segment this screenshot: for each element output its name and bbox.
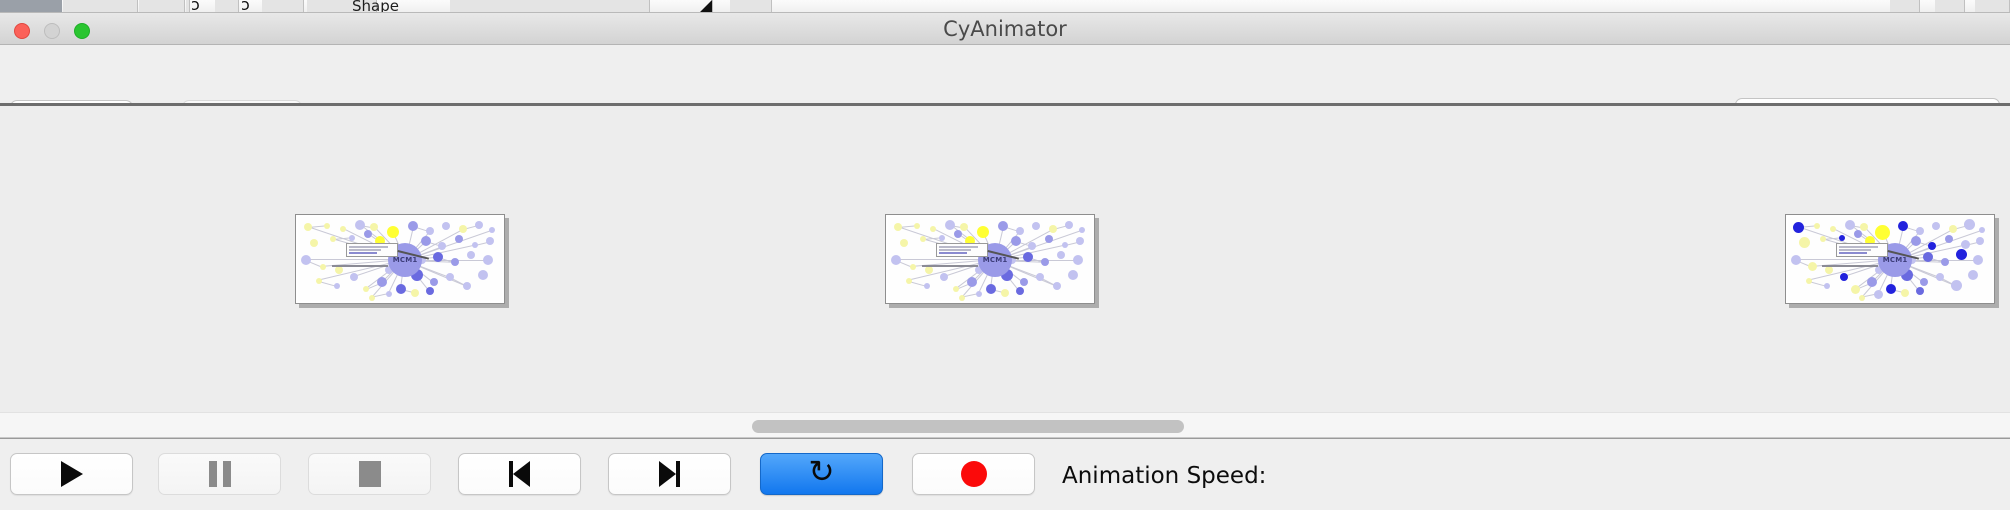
network-node	[1920, 278, 1928, 286]
network-node	[340, 226, 346, 232]
network-node	[442, 222, 450, 230]
network-node	[467, 251, 475, 259]
pause-icon	[209, 461, 231, 487]
network-node	[1068, 270, 1078, 280]
network-node	[411, 289, 419, 297]
network-node	[364, 230, 372, 238]
window-title: CyAnimator	[0, 13, 2010, 45]
network-node	[1073, 255, 1083, 265]
network-caption-text	[1822, 265, 1878, 267]
network-node	[891, 255, 901, 265]
network-node	[304, 223, 312, 231]
network-node	[1911, 236, 1921, 246]
cyanimator-window: ᴐ ᴐ Shape ◢ CyAnimator ✚ Clea	[0, 0, 2010, 510]
network-node	[396, 284, 406, 294]
network-node	[1791, 255, 1801, 265]
network-node	[350, 273, 358, 281]
network-node	[900, 239, 908, 247]
network-node	[1867, 277, 1877, 287]
network-node	[1079, 227, 1085, 233]
record-button[interactable]	[912, 453, 1035, 495]
network-node	[1979, 227, 1985, 233]
network-node	[455, 235, 463, 243]
network-node	[363, 286, 369, 292]
network-node	[1964, 219, 1975, 230]
network-node	[1808, 262, 1817, 271]
network-node	[451, 258, 459, 266]
network-node	[1814, 223, 1820, 229]
network-node	[1045, 235, 1053, 243]
network-node	[1016, 287, 1024, 295]
network-node	[301, 255, 311, 265]
network-node	[1011, 236, 1021, 246]
network-node	[910, 264, 916, 270]
network-node	[1820, 236, 1826, 242]
network-node	[1951, 280, 1962, 291]
network-node	[430, 278, 438, 286]
network-tooltip	[1836, 243, 1888, 257]
network-node	[408, 221, 418, 231]
network-node	[1941, 258, 1949, 266]
network-node	[1875, 225, 1890, 240]
timeline-scrollbar[interactable]	[0, 412, 2010, 438]
stop-icon	[359, 461, 381, 487]
network-node	[1049, 225, 1057, 233]
network-node	[1020, 278, 1028, 286]
network-node	[1854, 230, 1862, 238]
network-node	[906, 278, 912, 284]
network-node	[478, 270, 488, 280]
timeline-panel[interactable]: MCM1MCM1MCM1 2131415161718 Seconds	[0, 106, 2010, 412]
network-node	[1028, 242, 1036, 250]
network-node	[310, 239, 318, 247]
pause-button[interactable]	[158, 453, 281, 495]
background-app-sliver: ᴐ ᴐ Shape ◢	[0, 0, 2010, 13]
scrollbar-thumb[interactable]	[752, 420, 1184, 433]
network-node	[920, 236, 926, 242]
network-node	[1023, 252, 1033, 262]
skip-next-icon	[659, 461, 680, 487]
network-caption-text	[332, 265, 388, 267]
record-icon	[961, 461, 987, 487]
network-node	[1845, 220, 1855, 230]
network-node	[1824, 283, 1830, 289]
network-node	[421, 236, 431, 246]
animation-speed-label: Animation Speed:	[1062, 463, 1266, 489]
network-preview: MCM1	[1788, 217, 1992, 301]
network-node	[967, 277, 977, 287]
network-caption-text	[922, 265, 978, 267]
network-node	[369, 295, 375, 301]
network-node	[940, 273, 948, 281]
network-node	[1806, 278, 1812, 284]
network-node	[489, 227, 495, 233]
network-node	[1001, 289, 1009, 297]
toolbar: ✚ Clear All Frames	[0, 45, 2010, 104]
network-node	[1932, 222, 1940, 230]
play-button[interactable]	[10, 453, 133, 495]
background-app-label: Shape	[352, 0, 399, 12]
network-node	[1062, 242, 1068, 248]
stop-button[interactable]	[308, 453, 431, 495]
network-node	[959, 295, 965, 301]
network-node	[1886, 284, 1896, 294]
network-node	[472, 242, 478, 248]
network-preview: MCM1	[298, 217, 502, 301]
network-node	[1839, 235, 1845, 241]
network-node	[334, 283, 340, 289]
network-node	[976, 291, 982, 297]
network-node	[1076, 237, 1084, 245]
frame-thumbnail[interactable]: MCM1	[295, 214, 505, 304]
network-node	[1945, 235, 1953, 243]
frame-thumbnail[interactable]: MCM1	[885, 214, 1095, 304]
network-node	[953, 286, 959, 292]
skip-previous-icon	[509, 461, 530, 487]
network-node	[1898, 221, 1908, 231]
network-node	[1016, 227, 1024, 235]
network-node	[377, 277, 387, 287]
network-node	[1830, 226, 1836, 232]
network-node	[324, 223, 330, 229]
network-node	[1961, 240, 1970, 249]
network-node	[998, 221, 1008, 231]
network-node	[1053, 282, 1061, 290]
network-node	[433, 252, 443, 262]
network-node	[387, 226, 399, 238]
network-node	[1840, 273, 1848, 281]
network-node	[930, 226, 936, 232]
network-node	[1859, 295, 1865, 301]
network-node	[1968, 270, 1978, 280]
network-node	[924, 283, 930, 289]
network-node	[914, 223, 920, 229]
network-node	[426, 287, 434, 295]
network-node	[1901, 289, 1909, 297]
network-node	[939, 235, 945, 241]
network-node	[1065, 221, 1073, 229]
play-icon	[61, 461, 83, 487]
network-node	[355, 220, 365, 230]
network-node	[386, 291, 392, 297]
network-node	[475, 221, 483, 229]
network-node	[349, 235, 355, 241]
loop-button[interactable]: ↻	[760, 453, 883, 495]
network-node	[459, 225, 467, 233]
network-node	[1916, 227, 1924, 235]
network-node	[945, 220, 955, 230]
network-node	[1851, 285, 1860, 294]
network-node	[954, 230, 962, 238]
loop-icon: ↻	[809, 457, 835, 488]
network-node	[1973, 255, 1983, 265]
skip-previous-button[interactable]	[458, 453, 581, 495]
network-node	[483, 255, 493, 265]
network-node	[1923, 252, 1933, 262]
title-bar: CyAnimator	[0, 13, 2010, 45]
network-node	[1976, 237, 1984, 245]
network-node	[463, 282, 471, 290]
network-node	[330, 236, 336, 242]
playback-control-bar: ↻ Animation Speed:	[0, 438, 2010, 510]
network-node	[1057, 251, 1065, 259]
network-node	[1916, 287, 1924, 295]
network-preview: MCM1	[888, 217, 1092, 301]
network-node	[977, 226, 989, 238]
network-node	[986, 284, 996, 294]
network-node	[1949, 225, 1957, 233]
network-tooltip	[936, 243, 988, 257]
network-node	[426, 227, 434, 235]
network-node	[486, 237, 494, 245]
network-node	[894, 223, 902, 231]
network-node	[1956, 249, 1967, 260]
frame-thumbnail[interactable]: MCM1	[1785, 214, 1995, 304]
network-node	[1874, 290, 1883, 299]
network-node	[438, 242, 446, 250]
network-node	[1041, 258, 1049, 266]
network-node	[316, 278, 322, 284]
network-node	[1928, 242, 1936, 250]
network-node	[1793, 222, 1804, 233]
network-node	[1799, 237, 1810, 248]
network-tooltip	[346, 243, 398, 257]
skip-next-button[interactable]	[608, 453, 731, 495]
network-node	[1032, 222, 1040, 230]
network-node	[320, 264, 326, 270]
